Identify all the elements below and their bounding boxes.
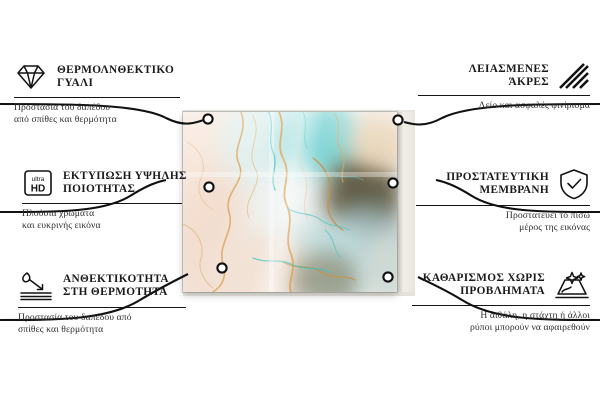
feature-title: ΠΡΟΣΤΑΤΕΥΤΙΚΗ ΜΕΜΒΡΑΝΗ [446,171,549,198]
feature-divider [22,203,182,204]
feature-title: ΛΕΙΑΣΜΕΝΕΣ ΆΚΡΕΣ [469,63,549,90]
feature-title: ΕΚΤΥΠΩΣΗ ΥΨΗΛΗΣ ΠΟΙΟΤΗΤΑΣ [63,170,187,197]
feature-header: ΛΕΙΑΣΜΕΝΕΣ ΆΚΡΕΣ [418,62,590,90]
feature-divider [412,305,590,306]
feature-divider [418,95,590,96]
feature-heat-durability: ΑΝΘΕΚΤΙΚΟΤΗΤΑ ΣΤΗ ΘΕΡΜΟΤΗΤΑ Προστασία το… [18,270,194,335]
feature-easy-cleaning: ΚΑΘΑΡΙΣΜΟΣ ΧΩΡΙΣ ΠΡΟΒΛΗΜΑΤΑ Η αιθάλη, η … [412,270,590,333]
feature-divider [14,97,180,98]
feature-description: Λείο και ασφαλές φινίρισμα [418,100,590,112]
flame-deflect-icon [18,270,54,302]
feature-header: ultra HD ΕΚΤΥΠΩΣΗ ΥΨΗΛΗΣ ΠΟΙΟΤΗΤΑΣ [22,168,194,198]
feature-title: ΑΝΘΕΚΤΙΚΟΤΗΤΑ ΣΤΗ ΘΕΡΜΟΤΗΤΑ [63,273,169,300]
feature-title: ΚΑΘΑΡΙΣΜΟΣ ΧΩΡΙΣ ΠΡΟΒΛΗΜΑΤΑ [423,272,545,299]
feature-divider [416,205,590,206]
feature-description: Πλούσια χρώματα και ευκρινής εικόνα [22,208,194,231]
ultra-hd-icon: ultra HD [22,168,54,198]
feature-divider [18,307,186,308]
feature-protective-membrane: ΠΡΟΣΤΑΤΕΥΤΙΚΗ ΜΕΜΒΡΑΝΗ Προστατεύει το πί… [416,168,590,233]
svg-text:ultra: ultra [32,176,45,183]
feature-header: ΑΝΘΕΚΤΙΚΟΤΗΤΑ ΣΤΗ ΘΕΡΜΟΤΗΤΑ [18,270,194,302]
feature-header: ΠΡΟΣΤΑΤΕΥΤΙΚΗ ΜΕΜΒΡΑΝΗ [416,168,590,200]
sparkle-wipe-icon [554,270,590,300]
feature-header: ΚΑΘΑΡΙΣΜΟΣ ΧΩΡΙΣ ΠΡΟΒΛΗΜΑΤΑ [412,270,590,300]
svg-text:HD: HD [31,184,45,195]
infographic-canvas: ΘΕΡΜΟΛΝΘΕΚΤΙΚΟ ΓΥΑΛΙ Προστασία του δαπέδ… [0,0,600,400]
hatched-edge-icon [558,62,590,90]
feature-description: Προστατεύει το πίσω μέρος της εικόνας [416,210,590,233]
feature-polished-edges: ΛΕΙΑΣΜΕΝΕΣ ΆΚΡΕΣ Λείο και ασφαλές φινίρι… [418,62,590,112]
feature-description: Προστασία του δαπέδου από σπίθες και θερ… [18,312,194,335]
diamond-icon [14,62,48,92]
feature-high-quality-print: ultra HD ΕΚΤΥΠΩΣΗ ΥΨΗΛΗΣ ΠΟΙΟΤΗΤΑΣ Πλούσ… [22,168,194,231]
feature-heat-resistant-glass: ΘΕΡΜΟΛΝΘΕΚΤΙΚΟ ΓΥΑΛΙ Προστασία του δαπέδ… [14,62,190,125]
feature-description: Προστασία του δαπέδου από σπίθες και θερ… [14,102,190,125]
shield-check-icon [558,168,590,200]
feature-description: Η αιθάλη, η στάχτη ή άλλοι ρύποι μπορούν… [412,310,590,333]
feature-title: ΘΕΡΜΟΛΝΘΕΚΤΙΚΟ ΓΥΑΛΙ [57,64,174,91]
feature-header: ΘΕΡΜΟΛΝΘΕΚΤΙΚΟ ΓΥΑΛΙ [14,62,190,92]
